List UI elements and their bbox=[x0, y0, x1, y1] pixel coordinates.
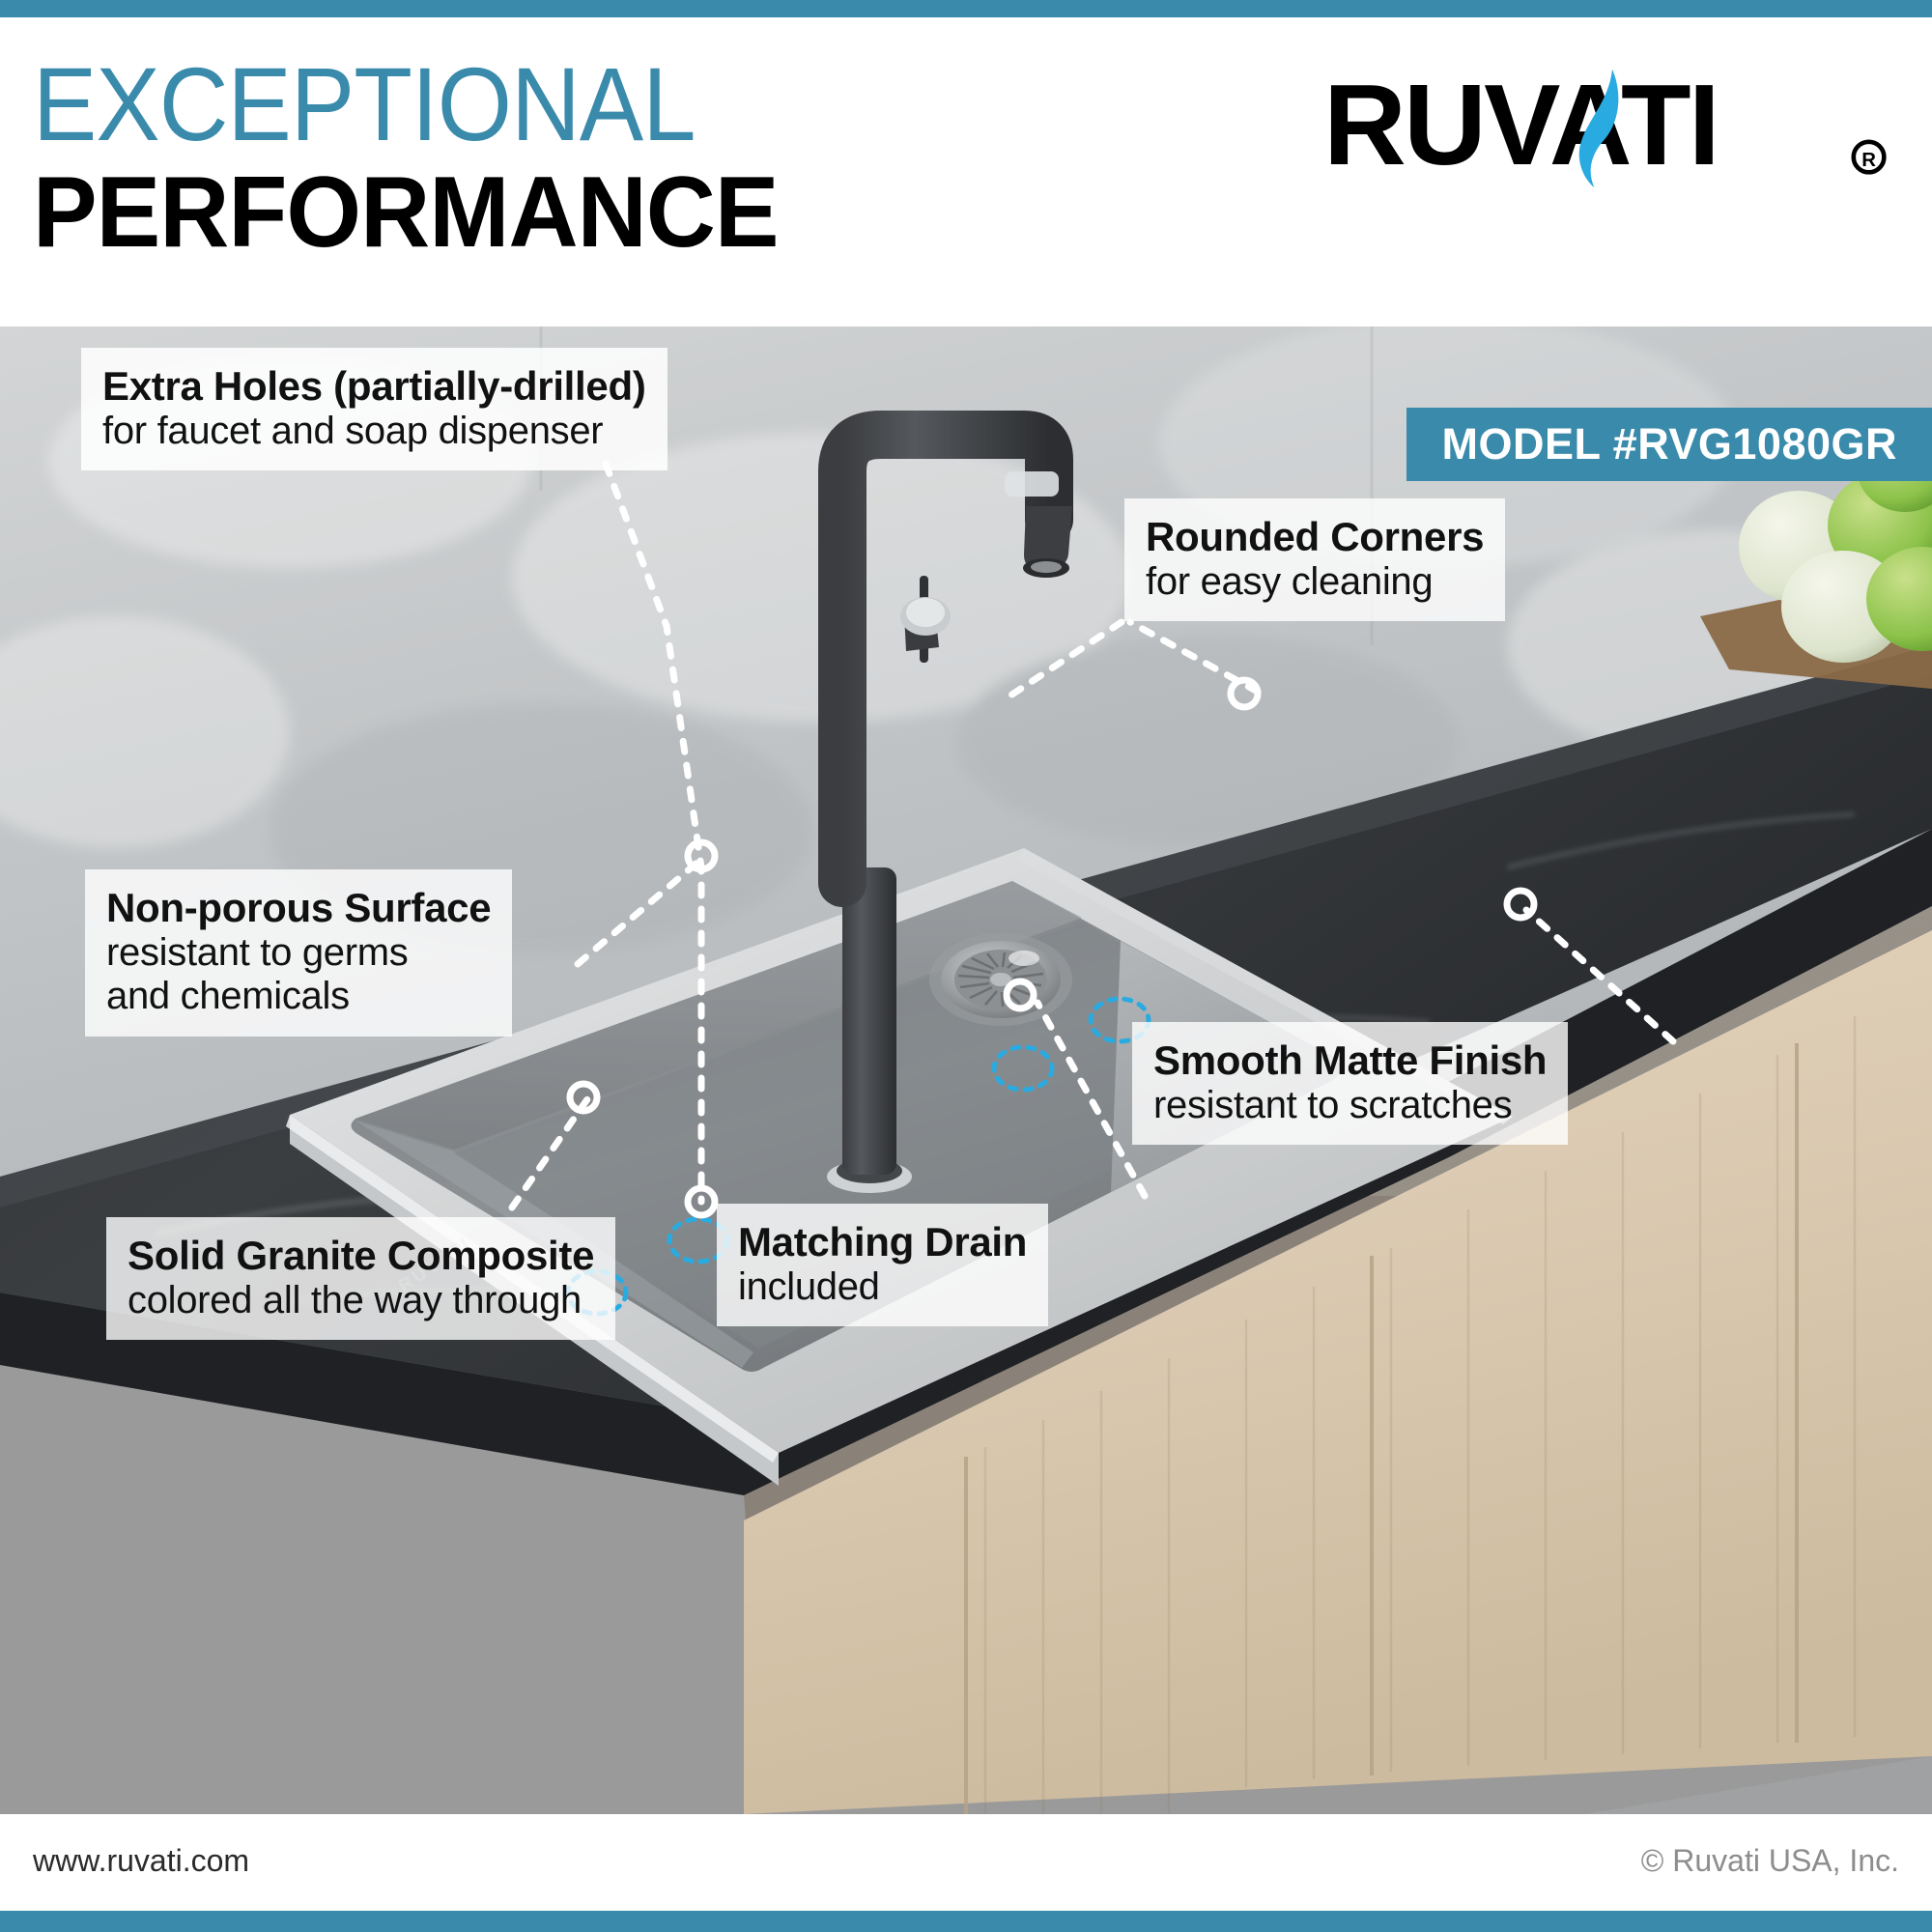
top-accent-bar bbox=[0, 0, 1932, 17]
registered-trademark-icon: R bbox=[1854, 142, 1885, 173]
callout-subtitle: for easy cleaning bbox=[1146, 560, 1484, 605]
footer: www.ruvati.com © Ruvati USA, Inc. bbox=[0, 1814, 1932, 1911]
ruvati-logo: RUVATI R bbox=[1323, 64, 1897, 189]
footer-website[interactable]: www.ruvati.com bbox=[33, 1843, 249, 1879]
callout-solid-granite-composite: Solid Granite Composite colored all the … bbox=[106, 1217, 615, 1340]
model-badge: MODEL #RVG1080GR bbox=[1406, 408, 1932, 481]
callout-subtitle: included bbox=[738, 1265, 1027, 1310]
headline-line-1: EXCEPTIONAL bbox=[33, 52, 747, 156]
footer-copyright: © Ruvati USA, Inc. bbox=[1641, 1843, 1899, 1879]
callout-subtitle-2: and chemicals bbox=[106, 975, 491, 1019]
callout-smooth-matte-finish: Smooth Matte Finish resistant to scratch… bbox=[1132, 1022, 1568, 1145]
callout-subtitle: for faucet and soap dispenser bbox=[102, 410, 646, 454]
callout-title: Extra Holes (partially-drilled) bbox=[102, 363, 646, 410]
faucet-chrome-collar bbox=[1005, 471, 1059, 497]
callout-matching-drain: Matching Drain included bbox=[717, 1204, 1048, 1326]
product-photo: RUVATI bbox=[0, 327, 1932, 1814]
bottom-accent-bar bbox=[0, 1911, 1932, 1932]
sink-drain bbox=[929, 933, 1072, 1026]
headline-line-2: PERFORMANCE bbox=[33, 160, 779, 266]
callout-non-porous-surface: Non-porous Surface resistant to germs an… bbox=[85, 869, 512, 1037]
callout-rounded-corners: Rounded Corners for easy cleaning bbox=[1124, 498, 1505, 621]
logo-wordmark-text: RUVATI bbox=[1323, 64, 1718, 189]
callout-subtitle: colored all the way through bbox=[128, 1279, 594, 1323]
callout-title: Matching Drain bbox=[738, 1219, 1027, 1265]
callout-subtitle: resistant to scratches bbox=[1153, 1084, 1547, 1128]
callout-title: Solid Granite Composite bbox=[128, 1233, 594, 1279]
faucet-column bbox=[842, 867, 896, 1175]
callout-extra-holes: Extra Holes (partially-drilled) for fauc… bbox=[81, 348, 668, 470]
callout-title: Rounded Corners bbox=[1146, 514, 1484, 560]
svg-text:R: R bbox=[1861, 150, 1876, 171]
page-title: EXCEPTIONAL PERFORMANCE bbox=[33, 52, 810, 266]
header: EXCEPTIONAL PERFORMANCE RUVATI R bbox=[0, 17, 1932, 327]
callout-title: Smooth Matte Finish bbox=[1153, 1037, 1547, 1084]
callout-subtitle: resistant to germs bbox=[106, 931, 491, 976]
callout-title: Non-porous Surface bbox=[106, 885, 491, 931]
